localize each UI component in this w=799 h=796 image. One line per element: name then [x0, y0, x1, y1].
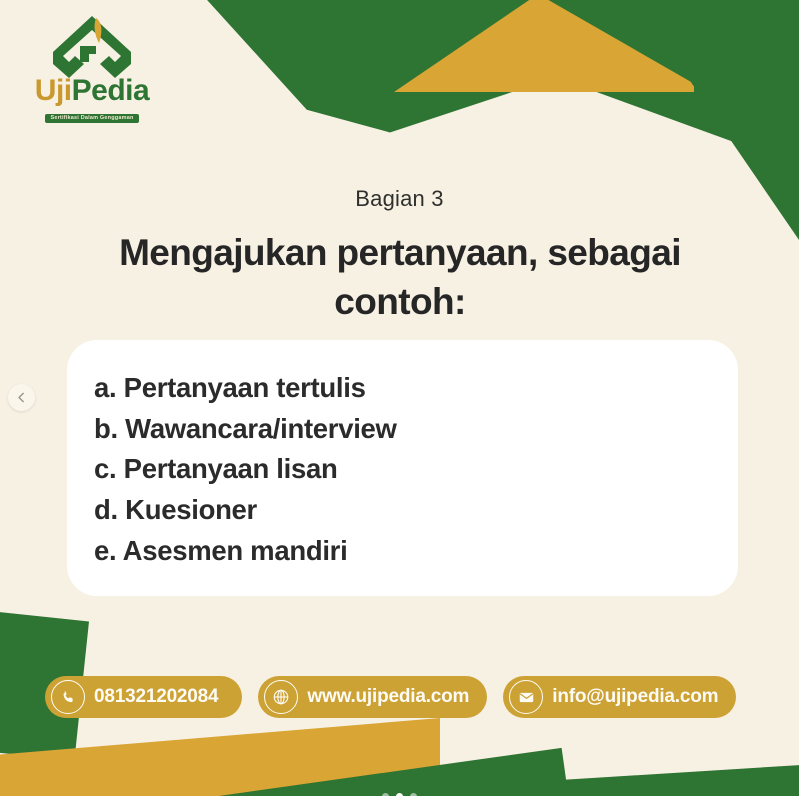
- content-card: a. Pertanyaan tertulis b. Wawancara/inte…: [67, 340, 738, 596]
- phone-icon: [51, 680, 85, 714]
- logo-word-pedia: Pedia: [72, 74, 150, 107]
- logo-tagline: Sertifikasi Dalam Genggaman: [45, 114, 138, 123]
- ujipedia-logo-mark: [49, 12, 135, 80]
- contact-email-text: info@ujipedia.com: [552, 686, 718, 708]
- slide-canvas: UjiPedia Sertifikasi Dalam Genggaman Bag…: [0, 0, 799, 796]
- contact-pill-email[interactable]: info@ujipedia.com: [503, 676, 736, 718]
- carousel-prev-button[interactable]: [8, 384, 35, 411]
- list-item: a. Pertanyaan tertulis: [94, 368, 708, 409]
- envelope-icon: [509, 680, 543, 714]
- decor-bottom-green-shape: [160, 760, 799, 796]
- globe-icon: [264, 680, 298, 714]
- answer-options-list: a. Pertanyaan tertulis b. Wawancara/inte…: [94, 368, 708, 571]
- decor-bottom-green-bar: [126, 748, 574, 796]
- list-item: d. Kuesioner: [94, 490, 708, 531]
- page-title: Mengajukan pertanyaan, sebagai contoh:: [68, 228, 732, 326]
- decor-bottom-left-gold-shape: [0, 718, 440, 796]
- footer-contact-row: 081321202084 www.ujipedia.com info@u: [45, 676, 775, 718]
- decor-top-green-shape: [198, 0, 799, 180]
- chevron-left-icon: [16, 392, 27, 403]
- list-item: e. Asesmen mandiri: [94, 531, 708, 572]
- contact-pill-phone[interactable]: 081321202084: [45, 676, 242, 718]
- contact-website-text: www.ujipedia.com: [307, 686, 469, 708]
- logo-word-uji: Uji: [35, 74, 72, 107]
- brand-logo: UjiPedia Sertifikasi Dalam Genggaman: [22, 12, 162, 124]
- contact-pill-website[interactable]: www.ujipedia.com: [258, 676, 487, 718]
- decor-top-gold-triangle: [394, 0, 694, 134]
- section-eyebrow: Bagian 3: [0, 186, 799, 212]
- list-item: b. Wawancara/interview: [94, 409, 708, 450]
- contact-phone-text: 081321202084: [94, 686, 218, 708]
- logo-wordmark: UjiPedia: [22, 76, 162, 106]
- list-item: c. Pertanyaan lisan: [94, 449, 708, 490]
